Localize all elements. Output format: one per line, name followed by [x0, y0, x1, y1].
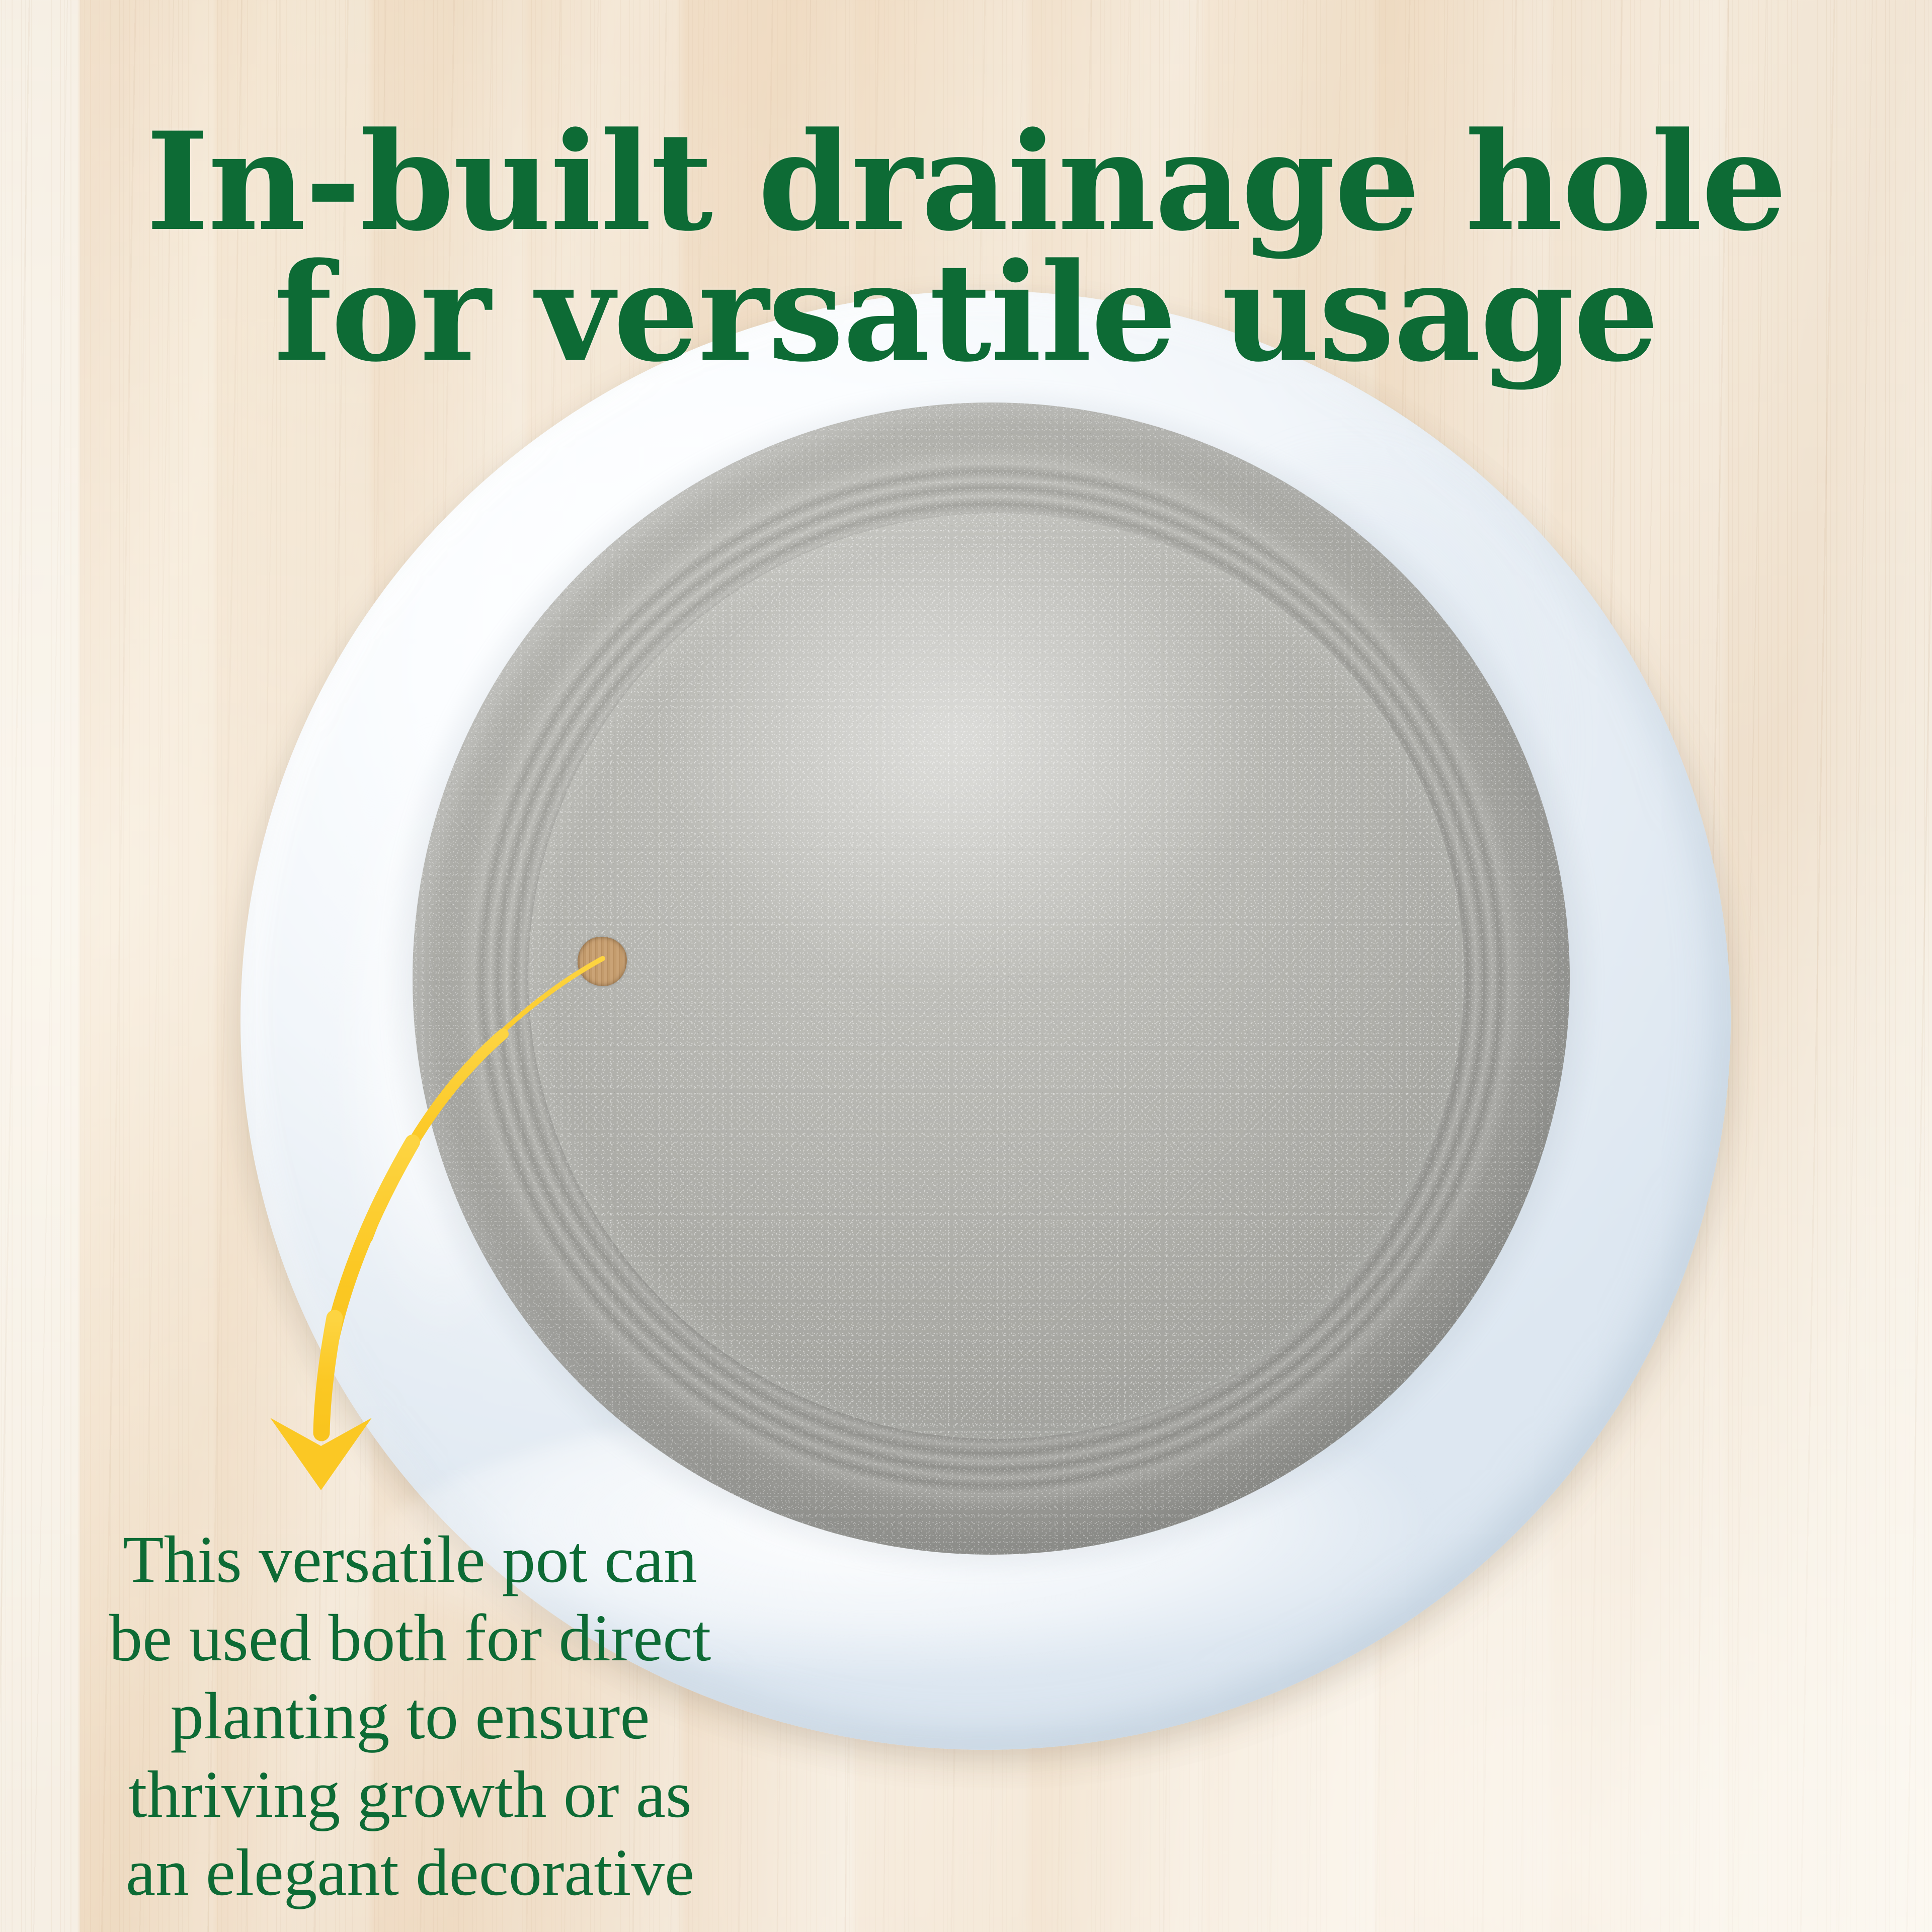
caption-line-3: planting to ensure	[75, 1677, 745, 1755]
feature-caption: This versatile pot can be used both for …	[75, 1520, 745, 1932]
product-feature-graphic: In-built drainage hole for versatile usa…	[0, 0, 1932, 1932]
caption-line-2: be used both for direct	[75, 1599, 745, 1677]
arrow-tail-thin	[403, 958, 603, 1157]
caption-line-4: thriving growth or as	[75, 1755, 745, 1834]
caption-line-6: outer pot.	[75, 1912, 745, 1932]
arrow-shaft-mid	[367, 1034, 503, 1238]
arrow-shaft-end	[321, 1318, 335, 1433]
caption-line-5: an elegant decorative	[75, 1833, 745, 1912]
caption-line-1: This versatile pot can	[75, 1520, 745, 1599]
